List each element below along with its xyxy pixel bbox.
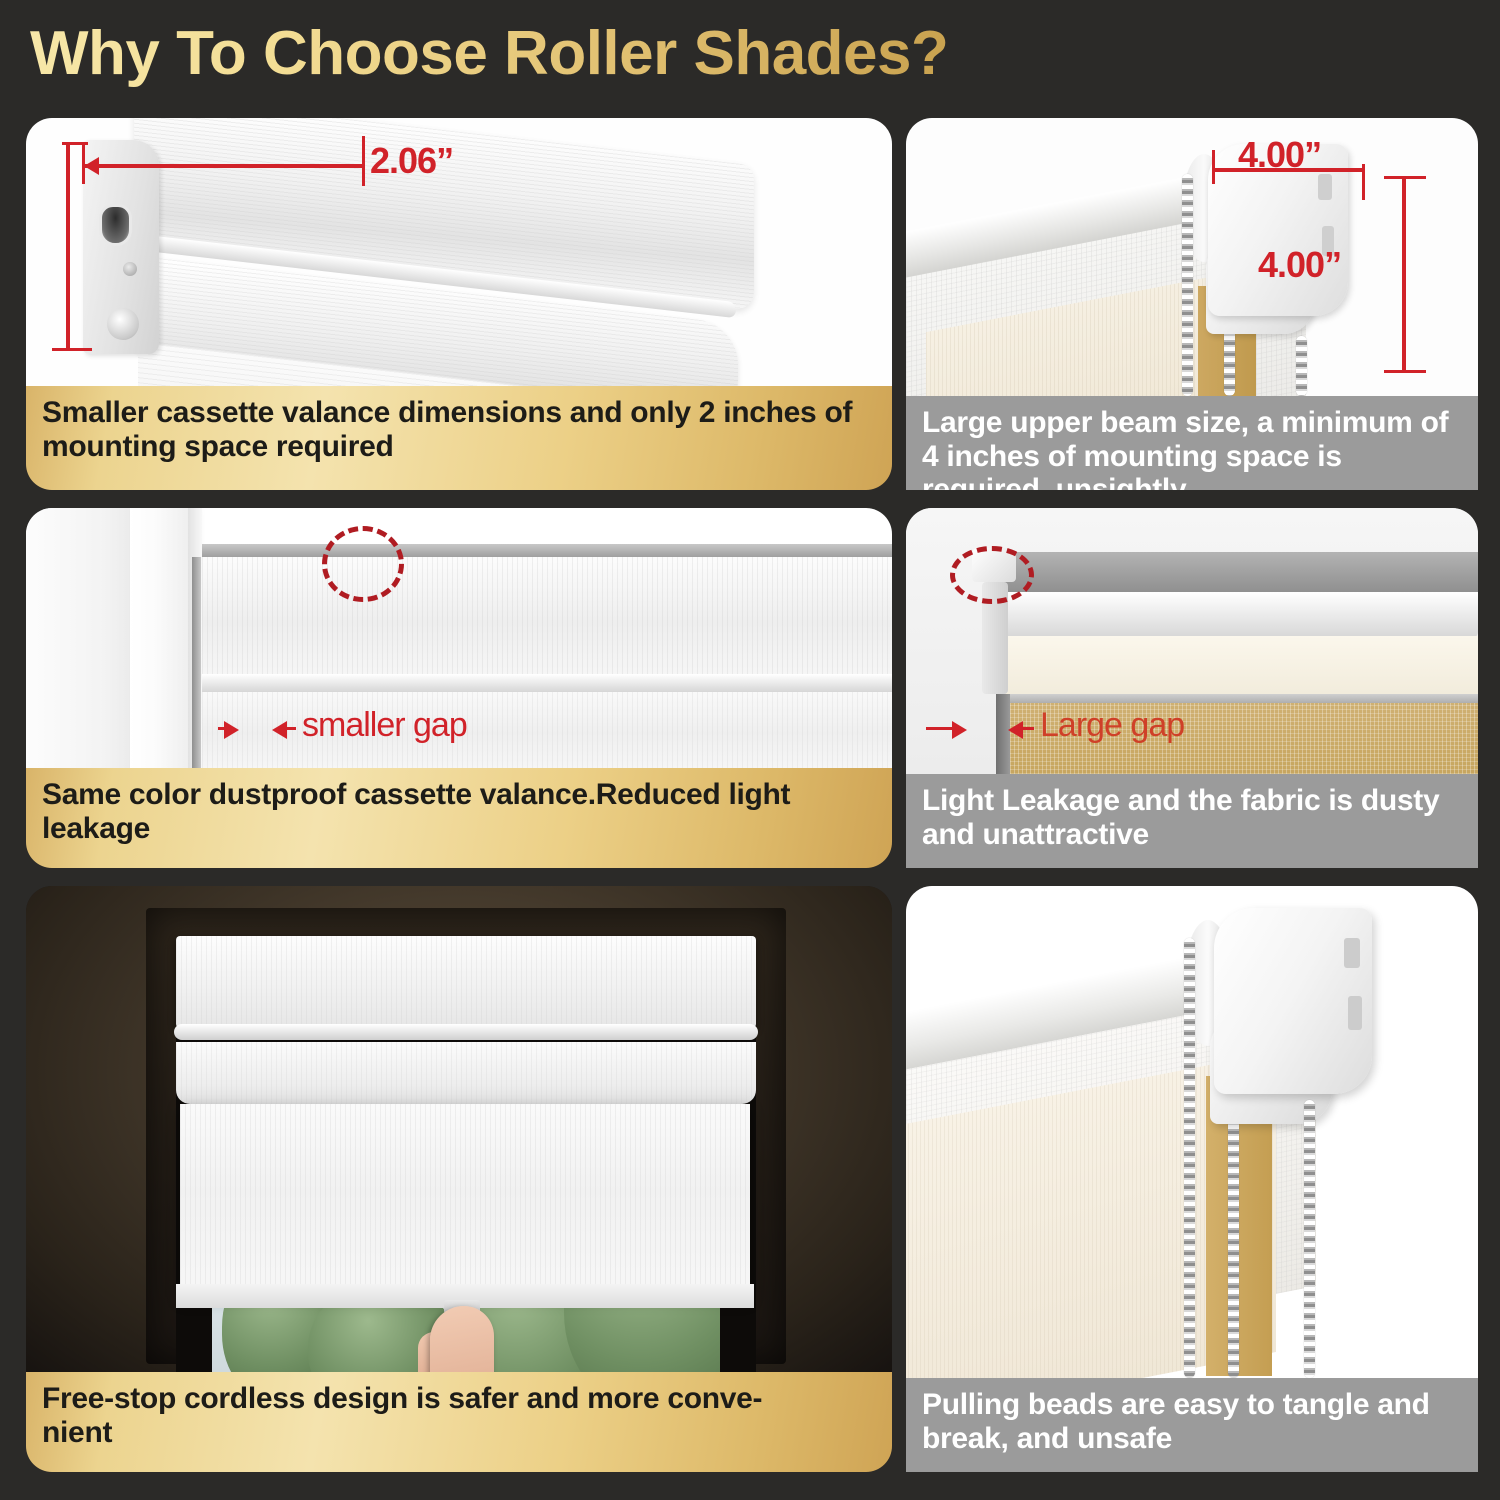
gap-label-large: Large gap — [1040, 706, 1184, 745]
gap-arrow-right-icon — [272, 721, 287, 739]
beam-tick-bottom — [1384, 370, 1426, 373]
bead-chain-right — [1296, 336, 1307, 396]
bead-chain-left — [1182, 174, 1193, 396]
upper-beam-dark-band — [1002, 552, 1478, 594]
infographic-root: Why To Choose Roller Shades? 2.06” — [0, 0, 1500, 1500]
panel-pro-cordless: Free-stop cordless design is safer and m… — [26, 886, 892, 1472]
panel-pro-dustproof-valance: smaller gap Same color dustproof cassett… — [26, 508, 892, 868]
dimension-label-width: 2.06” — [370, 140, 453, 182]
panel-caption-con-light-leakage: Light Leakage and the fabric is dusty an… — [906, 774, 1478, 868]
cassette-valance-front — [202, 557, 892, 677]
panel-image-dustproof-valance: smaller gap — [26, 508, 892, 774]
gap-arrow-left-icon — [224, 721, 239, 739]
shade-fabric-panel — [180, 1104, 750, 1296]
panel-caption-con-pull-beads: Pulling beads are easy to tangle and bre… — [906, 1378, 1478, 1472]
hand-pulling-shade — [430, 1306, 494, 1372]
beam-tick-left — [1212, 150, 1215, 184]
bracket-socket-icon — [99, 204, 132, 246]
beam-tick-top — [1384, 176, 1426, 179]
dimension-line-beam-height — [1402, 176, 1406, 372]
cassette-head-lip — [174, 1024, 758, 1040]
large-gap-leader-left — [926, 727, 956, 730]
gap-leader-right — [284, 727, 296, 730]
panel-caption-pro-cassette-size: Smaller cassette valance dimensions and … — [26, 386, 892, 490]
dimension-line-height — [66, 142, 70, 350]
gap-label-smaller: smaller gap — [302, 706, 467, 745]
panel-con-beam-size: 4.00” 4.00” Large upper beam size, a min… — [906, 118, 1478, 490]
cream-fabric-band — [1002, 636, 1478, 694]
fabric-edge-shadow — [1002, 694, 1478, 703]
panel-image-light-leakage: Large gap — [906, 508, 1478, 774]
dimension-label-beam-height: 4.00” — [1258, 244, 1341, 286]
bead-chain-left — [1184, 938, 1195, 1378]
panel-con-light-leakage: Large gap Light Leakage and the fabric i… — [906, 508, 1478, 868]
dimension-tick-bottom — [52, 348, 92, 351]
panel-image-cassette-valance: 2.06” 5.49” — [26, 118, 892, 386]
panel-con-pull-beads: Pulling beads are easy to tangle and bre… — [906, 886, 1478, 1472]
large-gap-arrow-right-icon — [1008, 721, 1023, 739]
panel-image-pull-beads — [906, 886, 1478, 1378]
cassette-valance-head — [176, 936, 756, 1028]
valance-head-rail — [202, 544, 892, 557]
dimension-line-width — [84, 164, 364, 168]
large-gap-arrow-left-icon — [952, 721, 967, 739]
bracket-slot-upper-icon — [1344, 938, 1360, 968]
panel-caption-con-beam-size: Large upper beam size, a minimum of 4 in… — [906, 396, 1478, 490]
dimension-label-beam-width: 4.00” — [1238, 134, 1321, 176]
gap-leader-left — [218, 727, 232, 730]
bracket-screw-icon — [107, 308, 139, 340]
panel-pro-cassette-size: 2.06” 5.49” Smaller cassette valance dim… — [26, 118, 892, 490]
large-gap-leader-right — [1020, 727, 1034, 730]
bracket-screw-small-icon — [123, 262, 137, 276]
bracket-slot-lower-icon — [1348, 996, 1362, 1030]
beam-tick-right — [1362, 164, 1365, 200]
valance-bottom-lip — [202, 674, 892, 692]
roller-tube-white — [1002, 592, 1478, 638]
panel-image-room-scene — [26, 886, 892, 1372]
highlight-circle-leak — [950, 546, 1034, 604]
dimension-tick-top — [62, 142, 88, 145]
roller-tube-front — [176, 1042, 756, 1104]
panel-caption-pro-cordless: Free-stop cordless design is safer and m… — [26, 1372, 892, 1472]
dimension-arrow-left-icon — [84, 157, 99, 175]
gap-shadow-strip — [192, 557, 201, 774]
window-frame — [130, 508, 196, 774]
highlight-circle-gap — [322, 526, 404, 602]
bracket-slot-upper-icon — [1318, 174, 1332, 200]
panel-image-upper-beam: 4.00” 4.00” — [906, 118, 1478, 396]
comparison-grid: 2.06” 5.49” Smaller cassette valance dim… — [0, 0, 1500, 1500]
dimension-tick-right — [362, 136, 365, 186]
panel-caption-pro-dustproof-valance: Same color dustproof cassette valance.Re… — [26, 768, 892, 868]
bead-chain-right — [1304, 1100, 1315, 1378]
wall-surface — [26, 508, 138, 774]
